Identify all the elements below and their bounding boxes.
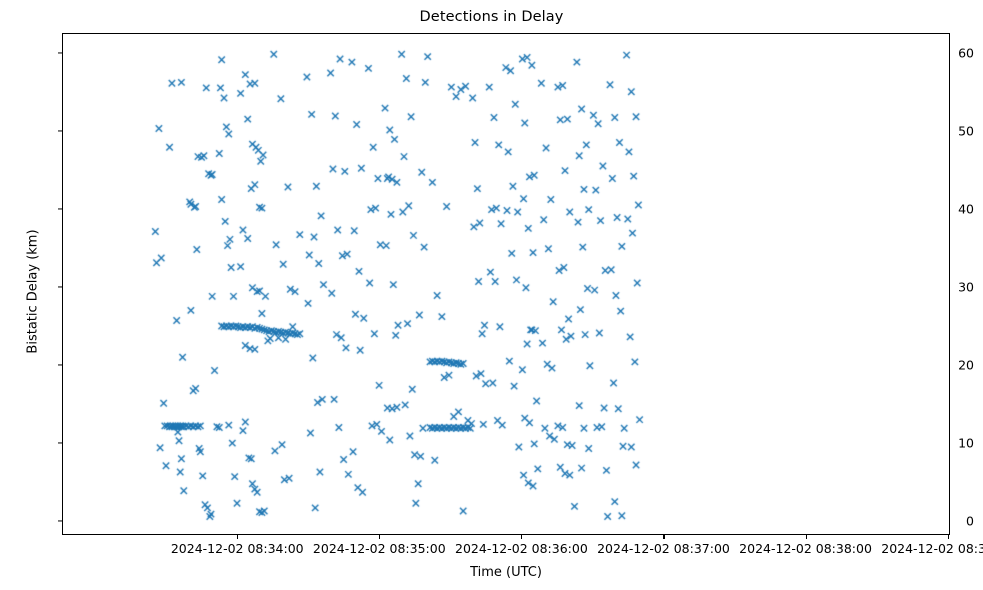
x-tick-mark bbox=[663, 535, 664, 539]
x-tick-label: 2024-12-02 08:37:00 bbox=[597, 541, 730, 556]
x-tick-label: 2024-12-02 08:36:00 bbox=[455, 541, 588, 556]
x-tick-mark bbox=[379, 535, 380, 539]
x-tick-label: 2024-12-02 08:38:00 bbox=[739, 541, 872, 556]
plot-axes bbox=[62, 33, 950, 535]
x-tick-label: 2024-12-02 08:34:00 bbox=[171, 541, 304, 556]
x-tick-mark bbox=[948, 535, 949, 539]
x-axis-label: Time (UTC) bbox=[62, 565, 950, 580]
y-axis-label: Bistatic Delay (km) bbox=[26, 142, 41, 442]
x-tick-mark bbox=[806, 535, 807, 539]
page-title: Detections in Delay bbox=[0, 9, 983, 25]
figure-canvas: Detections in Delay 0102030405060 2024-1… bbox=[0, 0, 983, 590]
x-tick-mark bbox=[237, 535, 238, 539]
x-tick-label: 2024-12-02 08:39:00 bbox=[881, 541, 983, 556]
scatter-plot-canvas bbox=[63, 34, 950, 535]
x-tick-mark bbox=[521, 535, 522, 539]
x-tick-label: 2024-12-02 08:35:00 bbox=[313, 541, 446, 556]
